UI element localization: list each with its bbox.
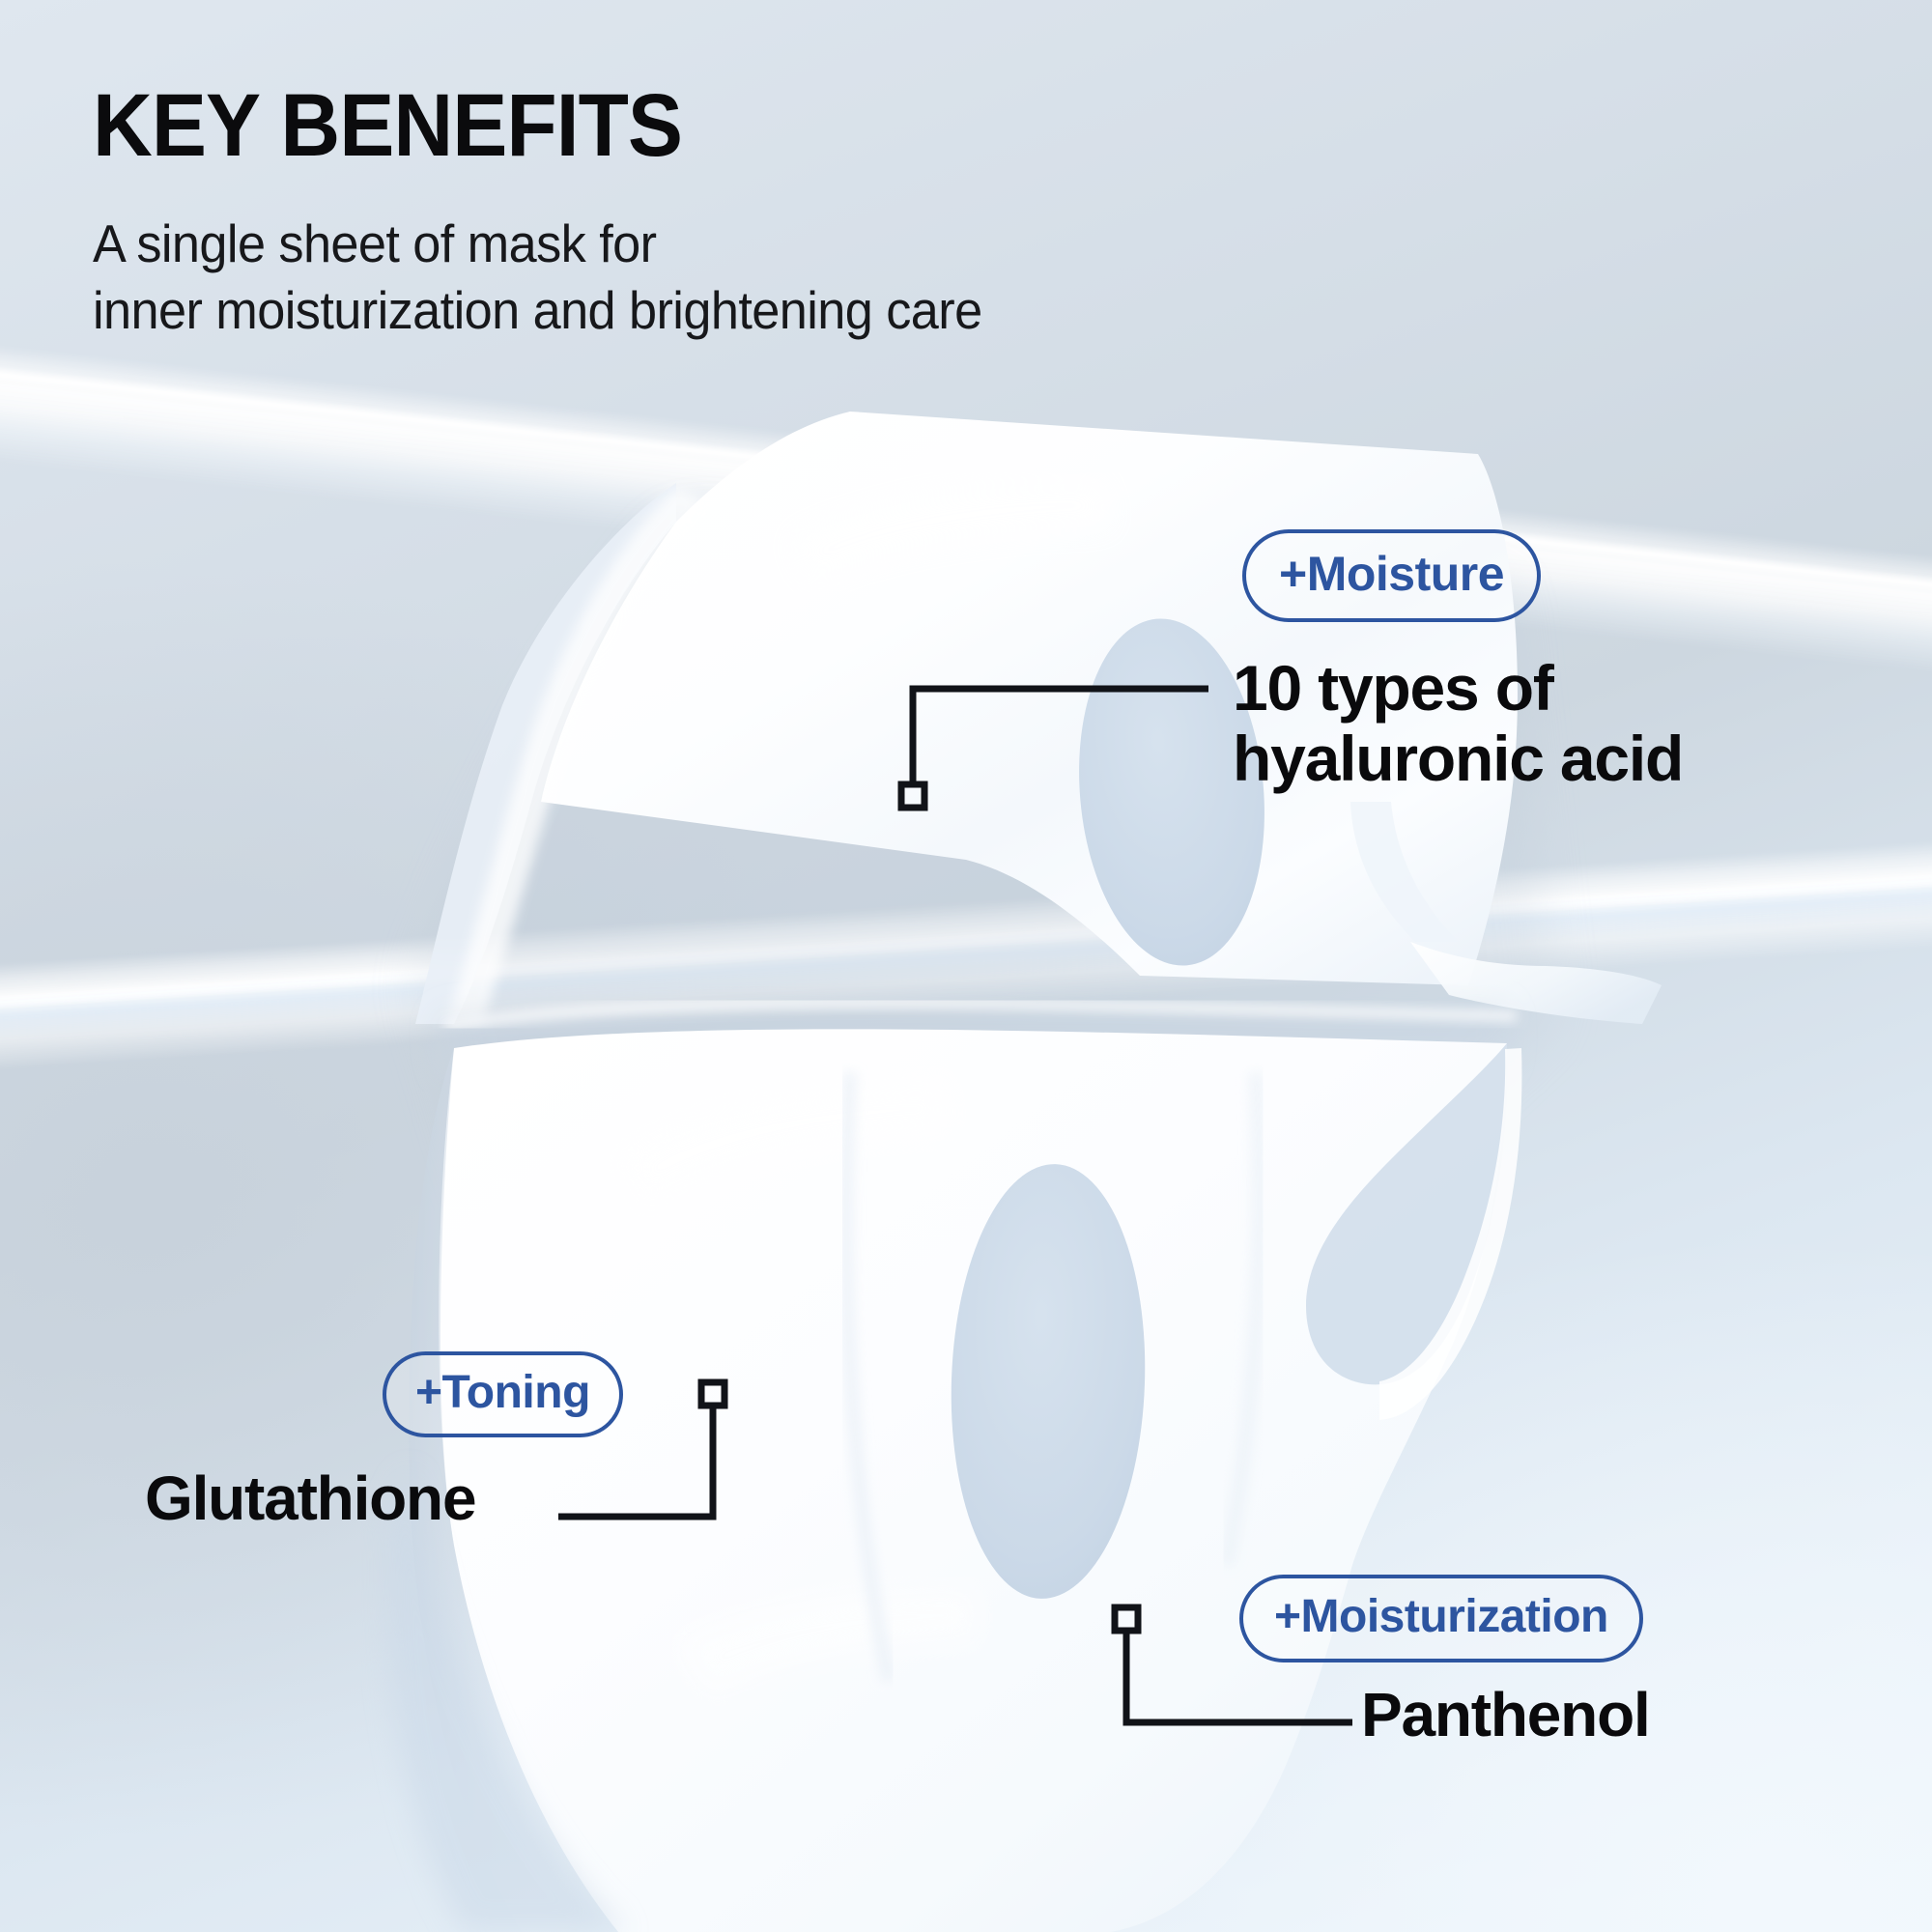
marker-square-moisturization: [1115, 1607, 1138, 1631]
page-subtitle: A single sheet of mask for inner moistur…: [93, 211, 982, 345]
page-title: KEY BENEFITS: [93, 81, 963, 170]
marker-square-toning: [701, 1382, 724, 1406]
header-block: KEY BENEFITS A single sheet of mask for …: [93, 81, 1029, 345]
badge-moisturization: +Moisturization: [1239, 1575, 1643, 1662]
ingredient-label-hyaluronic-acid: 10 types of hyaluronic acid: [1233, 653, 1683, 793]
glass-ribbon-upper: [0, 319, 1932, 705]
glass-ribbon-lower-highlight: [0, 843, 1932, 1021]
ingredient-label-panthenol: Panthenol: [1361, 1681, 1650, 1748]
glass-ribbon-lower: [0, 812, 1932, 1082]
ingredient-label-glutathione: Glutathione: [145, 1464, 475, 1532]
infographic-canvas: KEY BENEFITS A single sheet of mask for …: [0, 0, 1932, 1932]
glass-ribbon-upper-highlight: [0, 340, 1932, 627]
badge-toning: +Toning: [383, 1351, 623, 1437]
badge-moisture: +Moisture: [1242, 529, 1541, 622]
leader-line-moisture: [901, 689, 1208, 808]
marker-square-moisture: [901, 784, 924, 808]
